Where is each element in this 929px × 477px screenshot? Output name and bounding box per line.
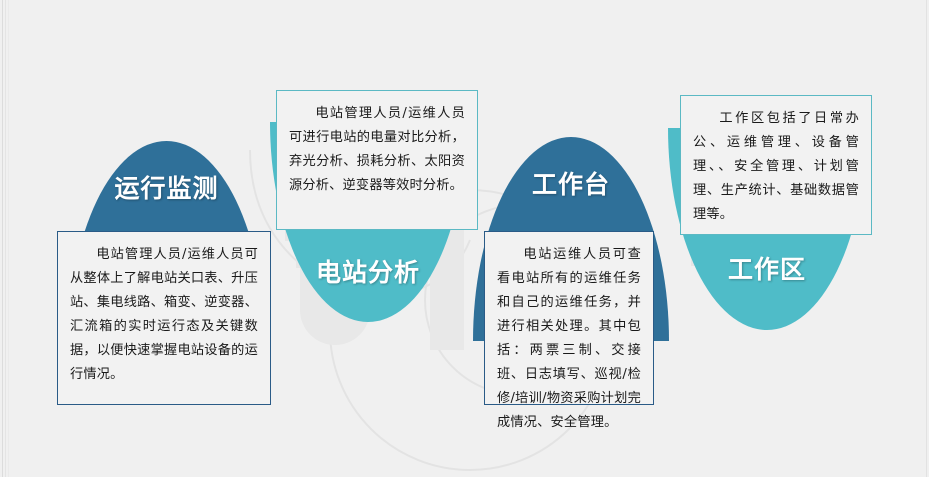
step-3-description: 电站运维人员可查看电站所有的运维任务和自己的运维任务，并进行相关处理。其中包括：… — [484, 231, 654, 405]
step-2-title: 电站分析 — [270, 253, 466, 289]
page-edge-line — [2, 0, 3, 477]
step-4-description: 工作区包括了日常办公、运维管理、设备管理、、安全管理、计划管理、生产统计、基础数… — [680, 95, 872, 235]
step-1-description: 电站管理人员/运维人员可从整体上了解电站关口表、升压站、集电线路、箱变、逆变器、… — [57, 231, 271, 405]
page-edge-line-right — [926, 0, 927, 477]
diagram-canvas: 运行监测 电站管理人员/运维人员可从整体上了解电站关口表、升压站、集电线路、箱变… — [0, 0, 929, 477]
step-2-description: 电站管理人员/运维人员可进行电站的电量对比分析，弃光分析、损耗分析、太阳资源分析… — [276, 90, 478, 230]
page-edge-line — [8, 0, 9, 477]
page-edge-line — [5, 0, 6, 477]
step-1-title: 运行监测 — [68, 169, 265, 205]
step-4-title: 工作区 — [668, 250, 866, 286]
step-3-title: 工作台 — [473, 165, 669, 201]
